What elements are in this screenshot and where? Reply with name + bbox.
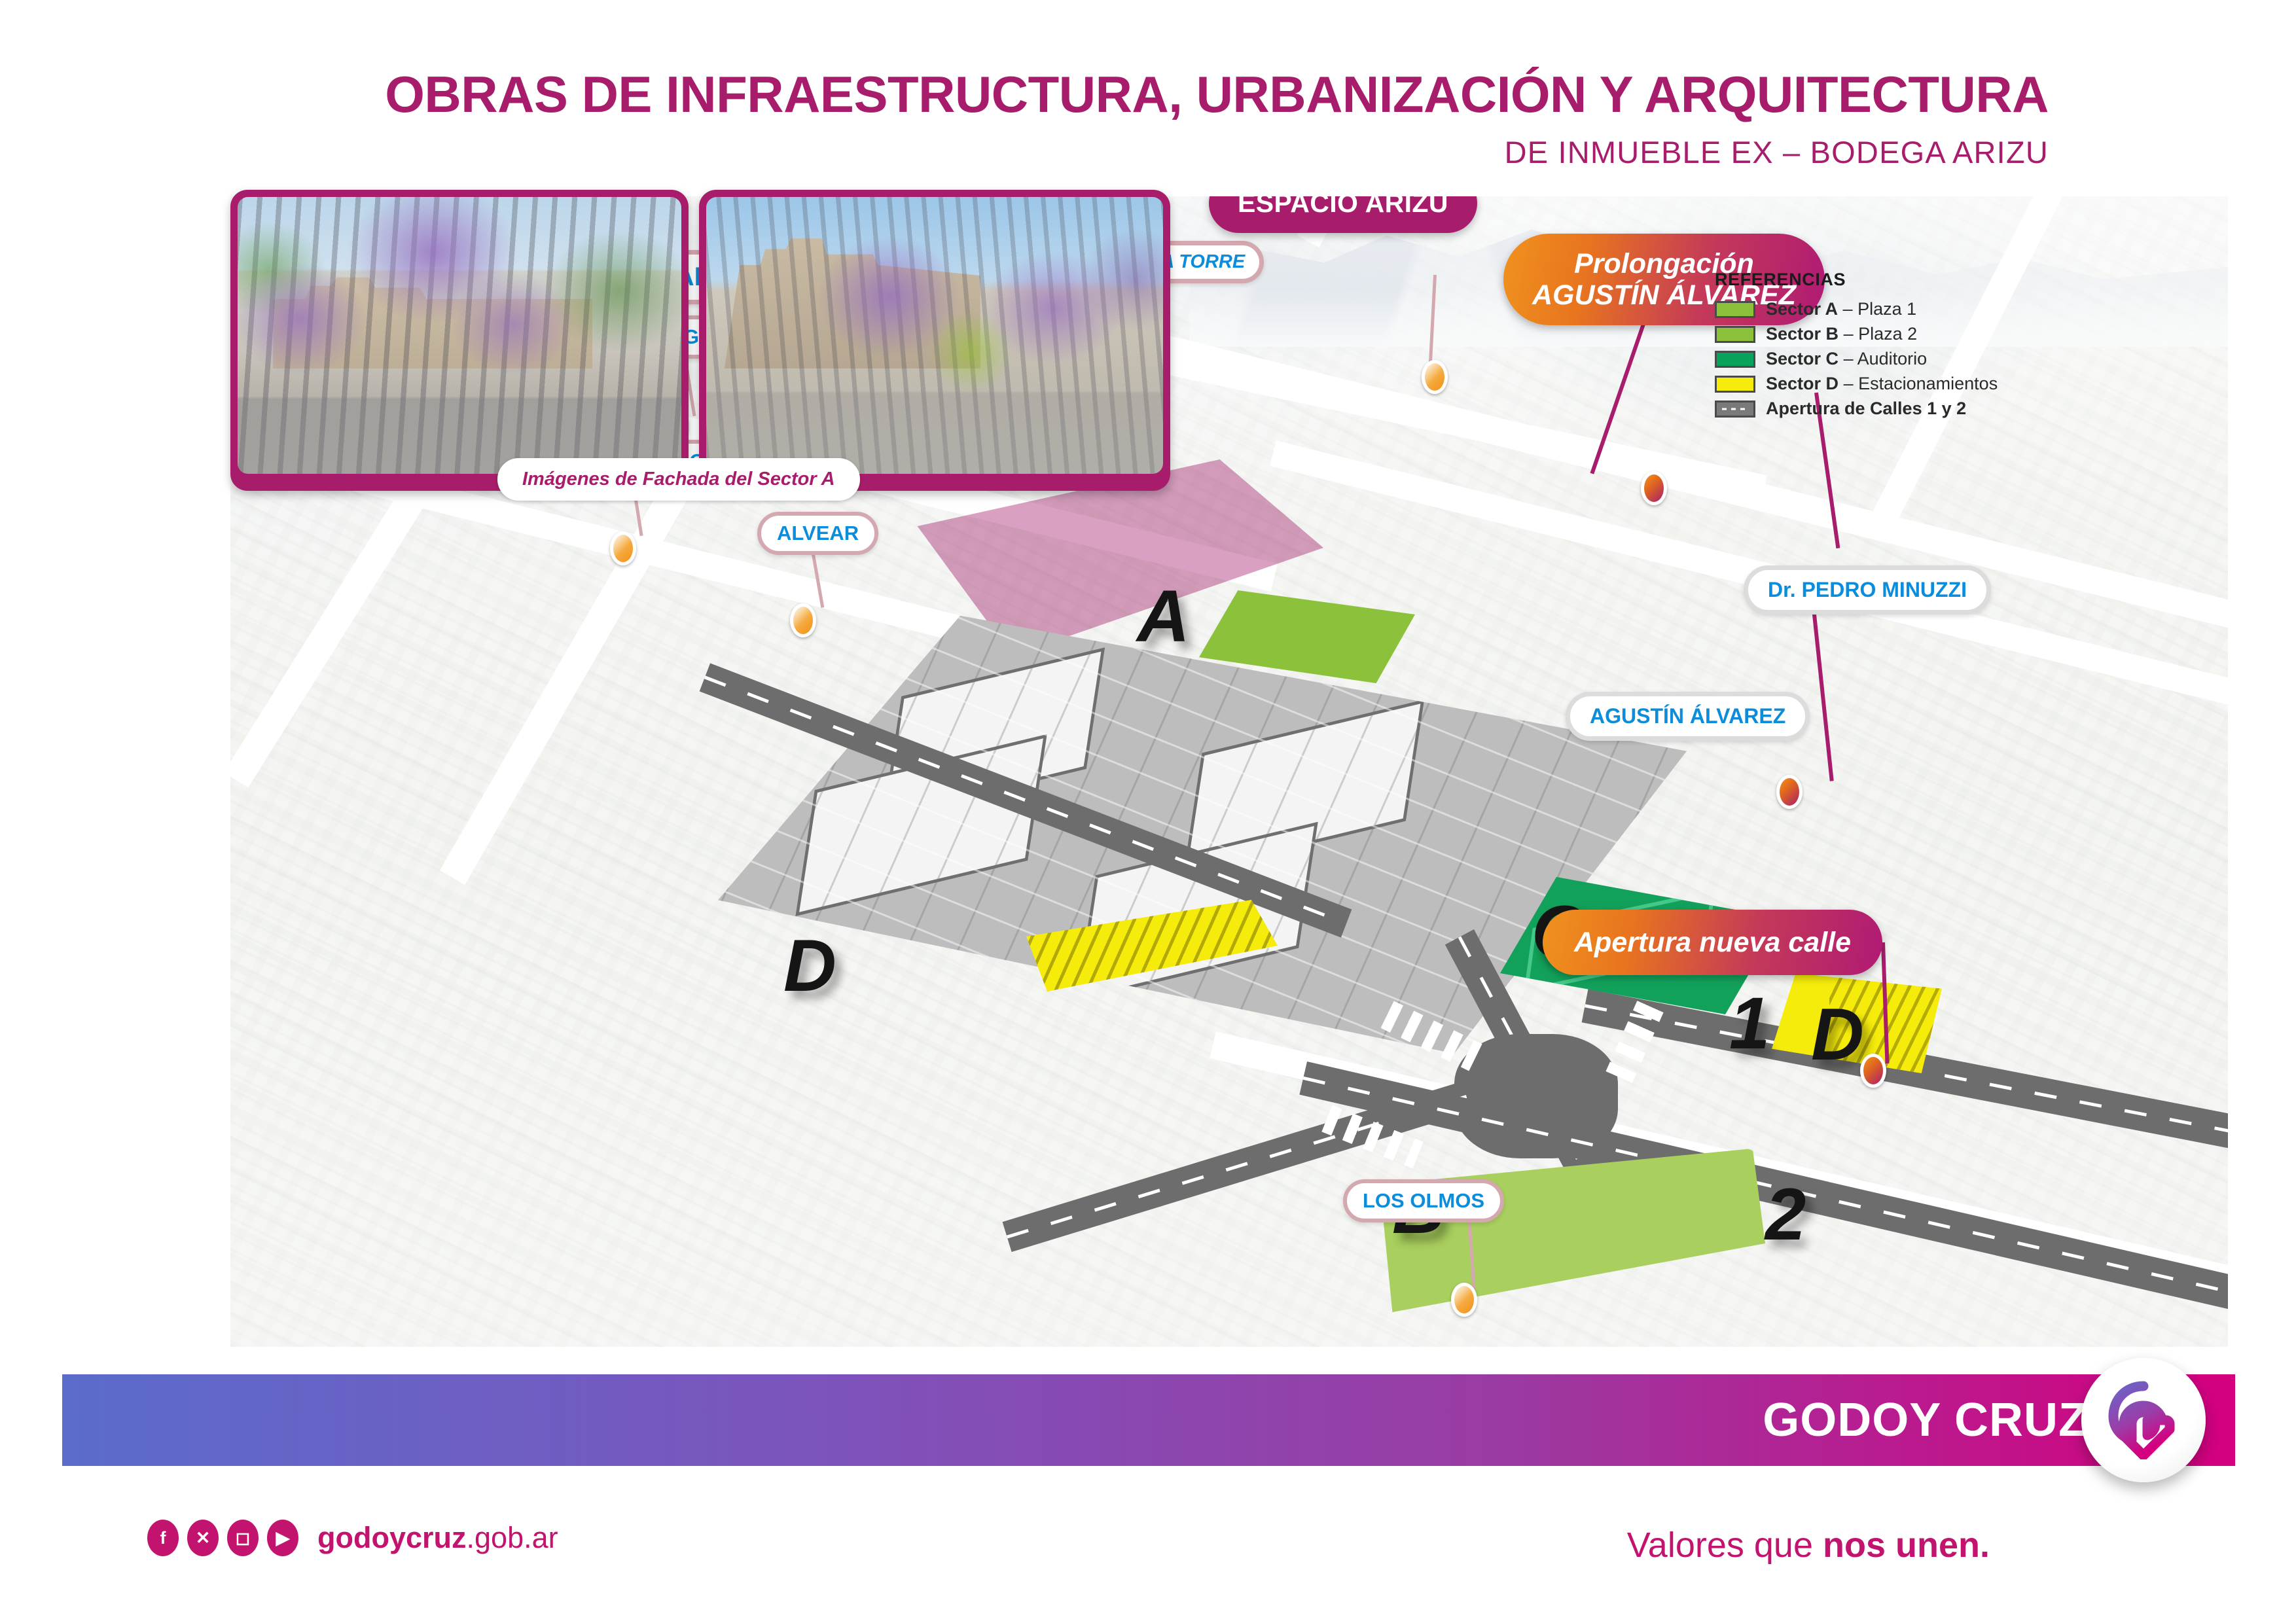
legend-sector-name: Sector B <box>1766 324 1839 344</box>
social-links: f ✕ ◻ ▶ godoycruz.gob.ar <box>147 1520 558 1556</box>
legend-item-apertura-calles: Apertura de Calles 1 y 2 <box>1715 399 1998 419</box>
render-image-2 <box>706 197 1163 474</box>
map-pin-olmos[interactable] <box>1451 1283 1477 1317</box>
legend-sector-desc: – Plaza 2 <box>1844 324 1918 344</box>
legend-box: REFERENCIAS Sector A – Plaza 1 Sector B … <box>1715 270 1998 423</box>
legend-sector-desc: – Auditorio <box>1844 349 1928 368</box>
logo-g-pin-icon <box>2104 1381 2183 1459</box>
map-pin-agustin[interactable] <box>1776 775 1803 809</box>
legend-title: REFERENCIAS <box>1715 270 1998 290</box>
legend-sector-name: Sector A <box>1766 299 1838 319</box>
map-pin-belgrano-2[interactable] <box>610 531 636 565</box>
legend-sector-desc: – Plaza 1 <box>1843 299 1917 319</box>
legend-swatch-sector-b <box>1715 326 1755 343</box>
legend-item-sector-d: Sector D – Estacionamientos <box>1715 374 1998 394</box>
photo-frame-2[interactable] <box>699 190 1170 491</box>
legend-swatch-sector-c <box>1715 351 1755 368</box>
sector-letter-d-north: D <box>783 929 836 1003</box>
street-label-agustin-alvarez[interactable]: AGUSTÍN ÁLVAREZ <box>1566 692 1810 741</box>
legend-swatch-apertura-calles <box>1715 401 1755 418</box>
website-url-light: .gob.ar <box>467 1521 558 1554</box>
facebook-icon[interactable]: f <box>147 1520 179 1556</box>
sector-letter-a: A <box>1137 580 1190 653</box>
page-title: OBRAS DE INFRAESTRUCTURA, URBANIZACIÓN Y… <box>0 69 2049 120</box>
footer-brand-name: GODOY CRUZ <box>1763 1393 2088 1447</box>
youtube-icon[interactable]: ▶ <box>267 1520 298 1556</box>
street-label-los-olmos[interactable]: LOS OLMOS <box>1343 1179 1504 1222</box>
legend-label-sector-d: Sector D – Estacionamientos <box>1766 374 1998 394</box>
page-subtitle: DE INMUEBLE EX – BODEGA ARIZU <box>0 134 2049 170</box>
legend-sector-name: Sector D <box>1766 374 1839 393</box>
slogan-light: Valores que <box>1627 1525 1823 1565</box>
photo-inset-group <box>230 190 1170 491</box>
legend-item-sector-a: Sector A – Plaza 1 <box>1715 299 1998 319</box>
legend-label-apertura-calles: Apertura de Calles 1 y 2 <box>1766 399 1966 419</box>
website-url[interactable]: godoycruz.gob.ar <box>317 1521 558 1555</box>
legend-label-sector-c: Sector C – Auditorio <box>1766 349 1927 369</box>
street-number-1: 1 <box>1729 987 1770 1060</box>
x-twitter-icon[interactable]: ✕ <box>187 1520 219 1556</box>
slogan-bold: nos unen. <box>1823 1525 1990 1565</box>
street-number-2: 2 <box>1765 1178 1806 1251</box>
callout-apertura-nueva-calle[interactable]: Apertura nueva calle <box>1543 910 1882 975</box>
legend-swatch-sector-d <box>1715 376 1755 393</box>
instagram-icon[interactable]: ◻ <box>227 1520 259 1556</box>
title-block: OBRAS DE INFRAESTRUCTURA, URBANIZACIÓN Y… <box>0 69 2049 170</box>
photo-caption: Imágenes de Fachada del Sector A <box>497 458 860 501</box>
legend-sector-desc: – Estacionamientos <box>1844 374 1998 393</box>
legend-sector-name: Sector C <box>1766 349 1839 368</box>
website-url-bold: godoycruz <box>317 1521 467 1554</box>
legend-item-sector-b: Sector B – Plaza 2 <box>1715 324 1998 344</box>
photo-frame-1[interactable] <box>230 190 689 491</box>
map-pin-apertura[interactable] <box>1860 1054 1886 1088</box>
poster-root: OBRAS DE INFRAESTRUCTURA, URBANIZACIÓN Y… <box>0 0 2296 1623</box>
legend-swatch-sector-a <box>1715 301 1755 318</box>
building-block <box>1183 700 1425 875</box>
legend-item-sector-c: Sector C – Auditorio <box>1715 349 1998 369</box>
street-label-alvear[interactable]: ALVEAR <box>757 512 878 555</box>
godoy-cruz-logo[interactable] <box>2081 1358 2206 1482</box>
legend-sector-name: Apertura de Calles 1 y 2 <box>1766 399 1966 418</box>
sector-letter-d-east: D <box>1811 998 1864 1071</box>
legend-label-sector-b: Sector B – Plaza 2 <box>1766 324 1917 344</box>
legend-label-sector-a: Sector A – Plaza 1 <box>1766 299 1916 319</box>
map-pin-alvear[interactable] <box>790 603 816 637</box>
footer-brand-bar: GODOY CRUZ <box>62 1374 2235 1466</box>
callout-espacio-arizu[interactable]: ESPACIO ARIZU <box>1209 196 1477 233</box>
map-pin-torre[interactable] <box>1422 360 1448 394</box>
brand-slogan: Valores que nos unen. <box>1627 1525 1990 1565</box>
render-image-1 <box>238 197 681 474</box>
street-label-dr-pedro-minuzzi[interactable]: Dr. PEDRO MINUZZI <box>1744 565 1991 615</box>
map-pin-arizu[interactable] <box>1641 471 1667 505</box>
